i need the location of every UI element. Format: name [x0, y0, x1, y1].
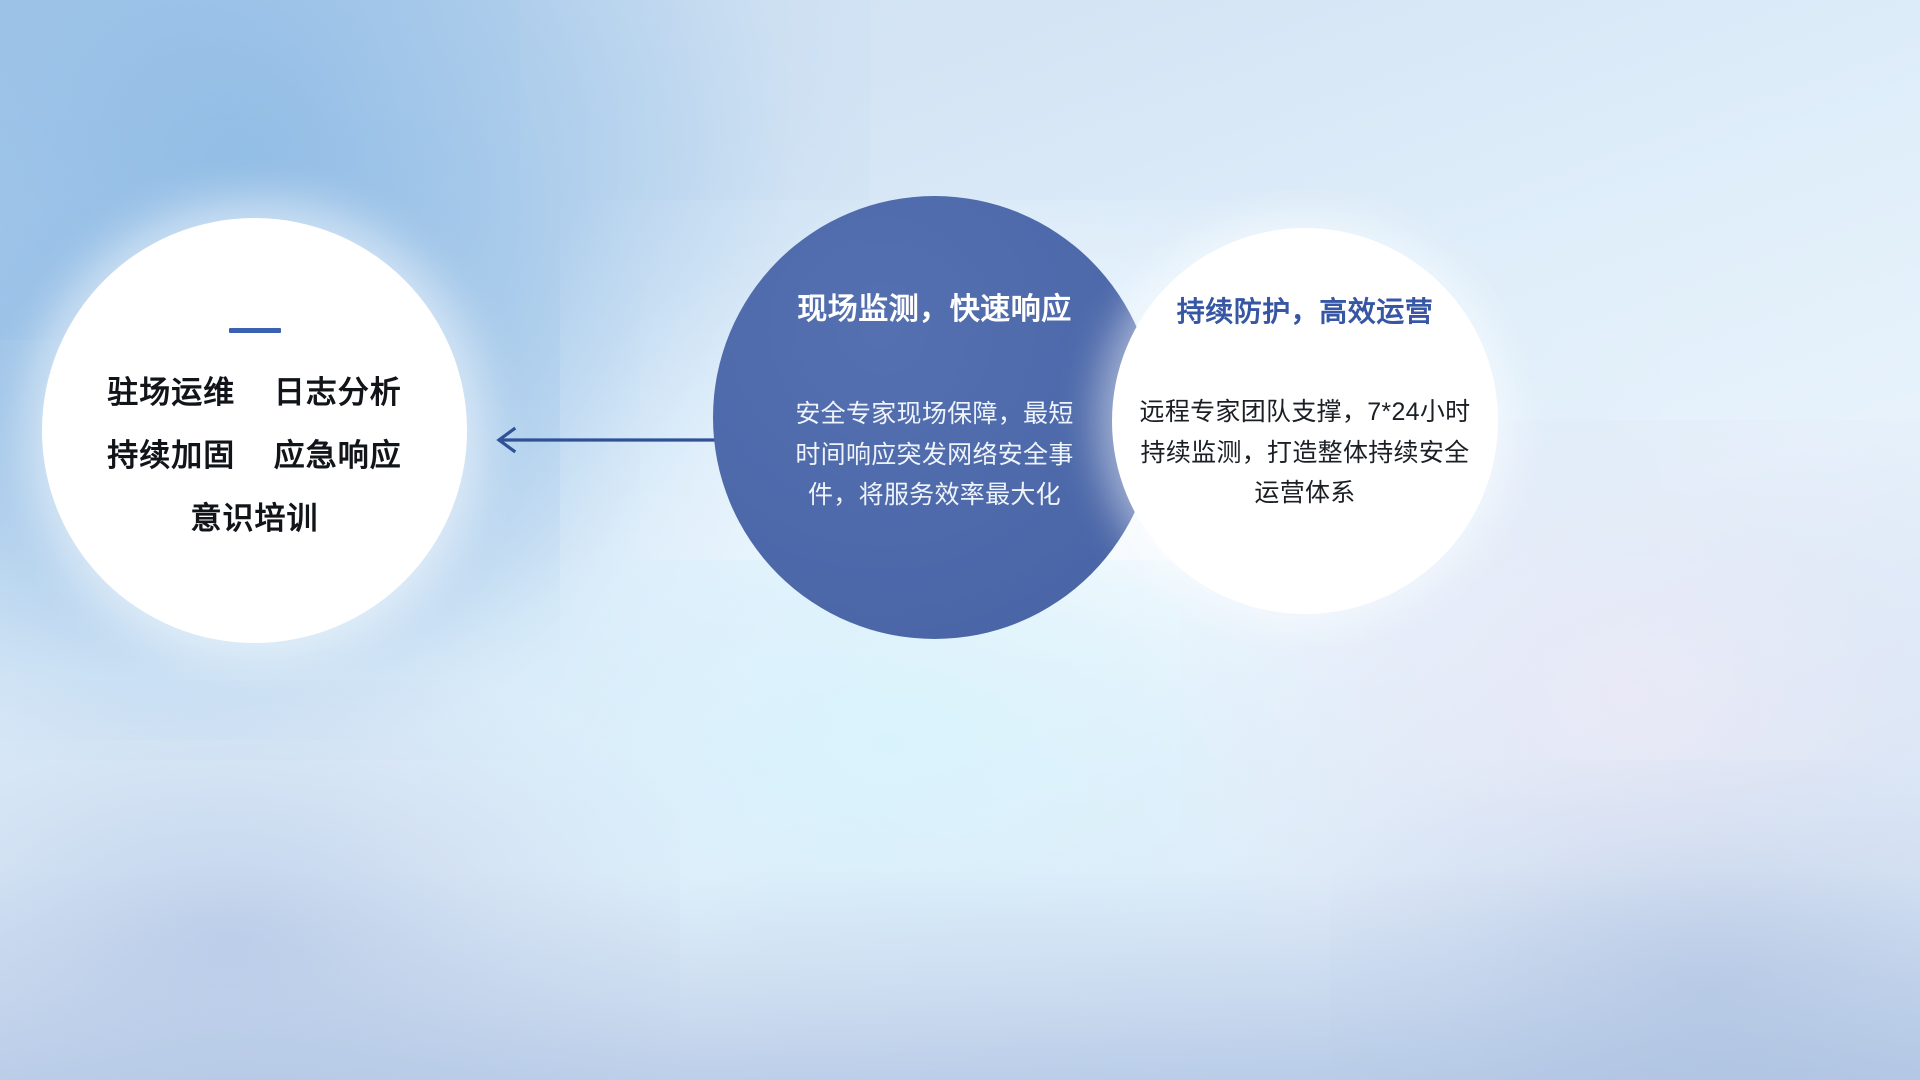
left-circle-keyword-list: 驻场运维 日志分析 持续加固 应急响应 意识培训 [107, 377, 401, 534]
right-circle-continuous-protection[interactable]: 持续防护，高效运营 远程专家团队支撑，7*24小时持续监测，打造整体持续安全运营… [1112, 228, 1498, 614]
right-circle-title: 持续防护，高效运营 [1177, 290, 1434, 330]
right-circle-body: 远程专家团队支撑，7*24小时持续监测，打造整体持续安全运营体系 [1130, 392, 1480, 514]
center-circle-title: 现场监测，快速响应 [797, 284, 1072, 328]
divider-dash-icon [229, 328, 281, 333]
center-circle-body: 安全专家现场保障，最短时间响应突发网络安全事件，将服务效率最大化 [785, 394, 1085, 516]
diagram-canvas: 驻场运维 日志分析 持续加固 应急响应 意识培训 现场监测，快速响应 安全专家现… [0, 0, 1920, 1080]
left-circle-capabilities[interactable]: 驻场运维 日志分析 持续加固 应急响应 意识培训 [42, 218, 467, 643]
center-circle-onsite-monitoring[interactable]: 现场监测，快速响应 安全专家现场保障，最短时间响应突发网络安全事件，将服务效率最… [713, 196, 1156, 639]
left-circle-line-1: 驻场运维 日志分析 [107, 377, 401, 408]
left-circle-line-2: 持续加固 应急响应 [107, 440, 401, 471]
left-circle-line-3: 意识培训 [107, 503, 401, 534]
flow-arrow [480, 418, 720, 462]
left-arrow-icon [480, 418, 720, 462]
